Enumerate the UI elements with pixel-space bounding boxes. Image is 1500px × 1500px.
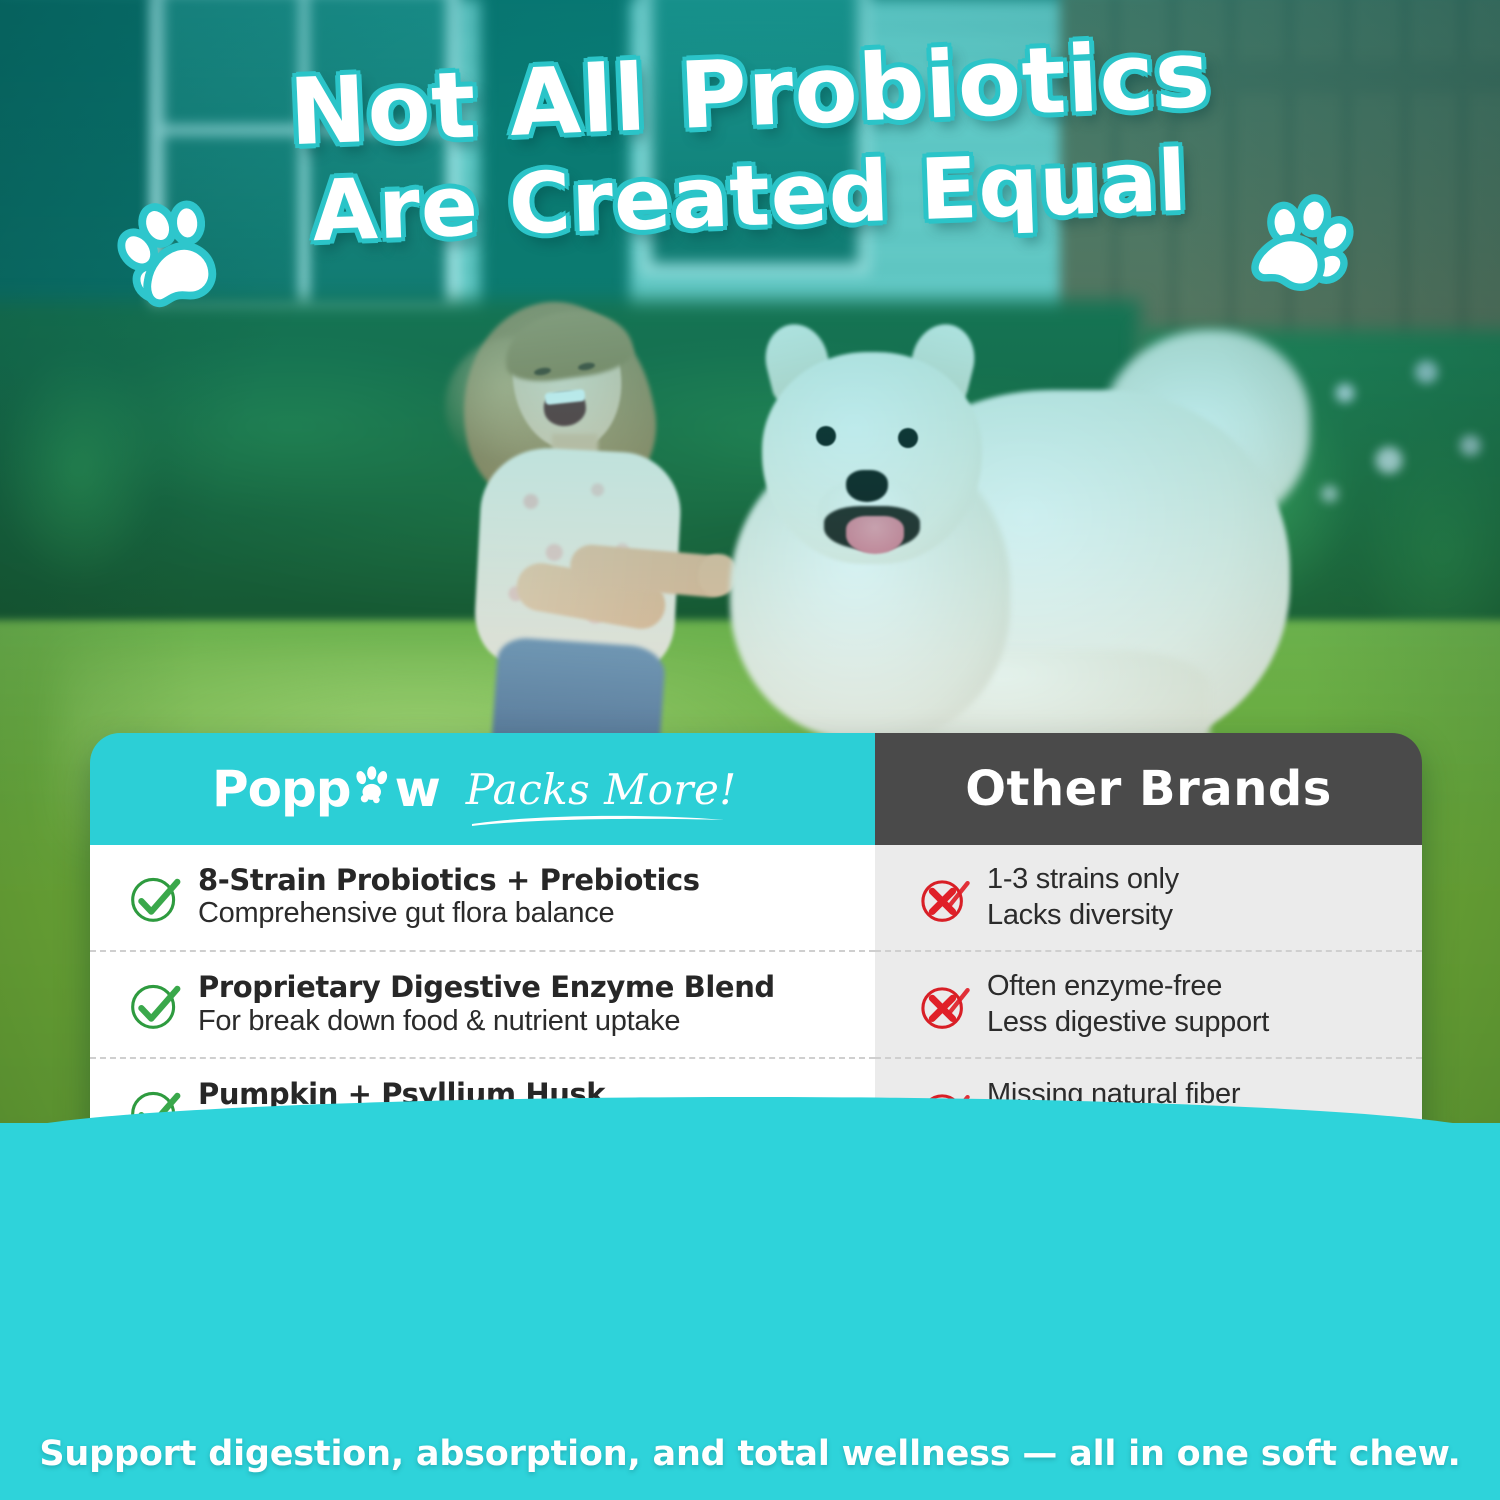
drawback-line-1: Often enzyme-free (987, 969, 1269, 1004)
table-row: Proprietary Digestive Enzyme Blend For b… (90, 952, 875, 1059)
feature-title: 8-Strain Probiotics + Prebiotics (198, 864, 700, 896)
competitor-label: Other Brands (965, 761, 1332, 817)
drawback-line-2: Less digestive support (987, 1005, 1269, 1040)
feature-subtitle: For break down food & nutrient uptake (198, 1004, 775, 1039)
table-row: 8-Strain Probiotics + Prebiotics Compreh… (90, 845, 875, 952)
dog-eye-left (816, 426, 836, 446)
row-text: Often enzyme-free Less digestive support (987, 969, 1269, 1040)
dog-eye-right (898, 428, 918, 448)
brand-column-header: Popp w Packs More! (90, 733, 875, 845)
competitor-column-header: Other Brands (875, 733, 1422, 845)
window-mullion-vertical (299, 0, 309, 306)
brand-tagline-wrap: Packs More! (466, 765, 737, 814)
brand-logo-part2: w (395, 760, 440, 818)
flower-bush (1290, 330, 1500, 540)
paw-print-icon (352, 765, 394, 807)
dog-nose (846, 470, 888, 502)
house-window-secondary (640, 0, 870, 275)
check-circle-icon (124, 974, 186, 1036)
drawback-line-1: 1-3 strains only (987, 862, 1179, 897)
drawback-line-2: Lacks diversity (987, 898, 1179, 933)
feature-title: Proprietary Digestive Enzyme Blend (198, 971, 775, 1003)
brand-logo-part1: Popp (212, 760, 351, 818)
wood-fence-rail (1060, 60, 1500, 94)
samoyed-dog (700, 300, 1320, 770)
dog-tongue (846, 516, 904, 554)
tagline-underline-swoosh (470, 813, 726, 827)
check-circle-icon (124, 867, 186, 929)
feature-subtitle: Comprehensive gut flora balance (198, 896, 700, 931)
brand-logo: Popp w (212, 760, 440, 818)
row-text: 1-3 strains only Lacks diversity (987, 862, 1179, 933)
footer-tagline: Support digestion, absorption, and total… (0, 1434, 1500, 1474)
brand-tagline: Packs More! (466, 765, 737, 814)
cross-circle-icon (913, 867, 975, 929)
comparison-table-header: Popp w Packs More! (90, 733, 1422, 845)
cross-circle-icon (913, 974, 975, 1036)
row-text: Proprietary Digestive Enzyme Blend For b… (198, 971, 775, 1038)
table-row: 1-3 strains only Lacks diversity (875, 845, 1422, 952)
row-text: 8-Strain Probiotics + Prebiotics Compreh… (198, 864, 700, 931)
table-row: Often enzyme-free Less digestive support (875, 952, 1422, 1059)
window-mullion-horizontal (164, 125, 446, 135)
